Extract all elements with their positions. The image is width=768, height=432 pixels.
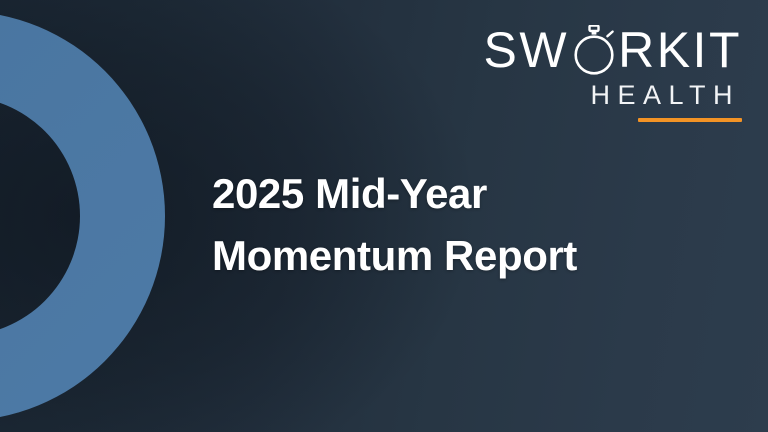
title-line-1: 2025 Mid-Year	[212, 163, 682, 225]
title-slide: SW RKI T HEALTH 2025 Mid-Year Mom	[0, 0, 768, 432]
title-line-2: Momentum Report	[212, 225, 682, 287]
wordmark-sworkit: SW RKI T	[430, 22, 742, 78]
stopwatch-icon	[571, 25, 617, 77]
wordmark-segment-rki: RKI	[618, 25, 709, 75]
logo-lockup: SW RKI T HEALTH	[430, 22, 742, 122]
wordmark-segment-sw: SW	[484, 25, 570, 75]
wordmark-segment-t: T	[709, 25, 742, 75]
accent-underline	[638, 118, 742, 122]
page-title: 2025 Mid-Year Momentum Report	[212, 163, 682, 287]
logo-subtitle-health: HEALTH	[430, 82, 742, 109]
